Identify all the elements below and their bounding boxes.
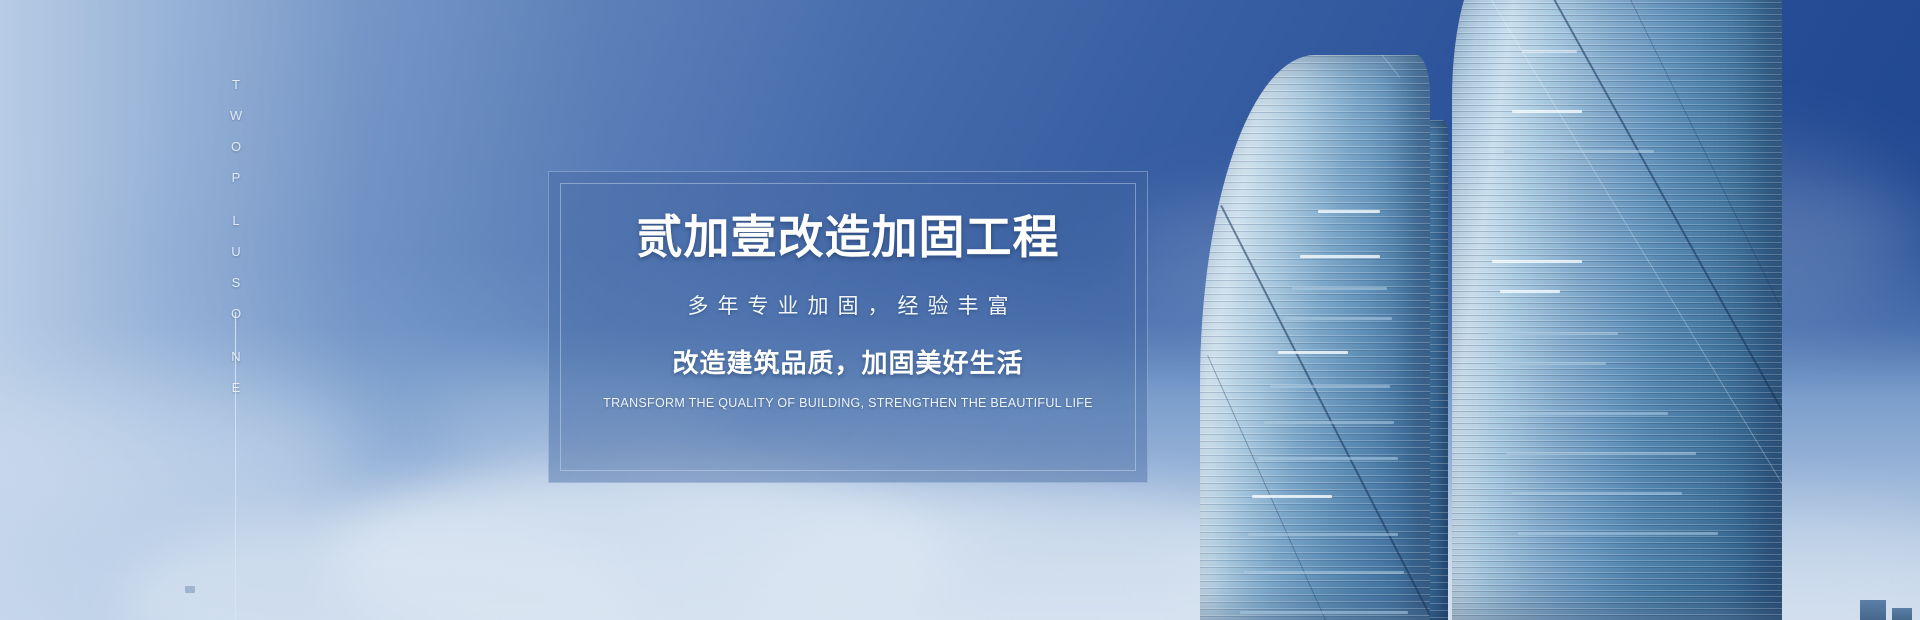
- window-strip: [1258, 457, 1398, 460]
- lit-window-strip: [1300, 255, 1380, 258]
- brand-letter: S: [232, 276, 241, 289]
- tower-right-twisting: [1452, 0, 1782, 620]
- window-strip: [1504, 150, 1654, 153]
- background-building: [1892, 608, 1912, 620]
- window-strip: [1244, 571, 1404, 574]
- lit-window-strip: [1492, 260, 1582, 263]
- window-strip: [1248, 533, 1398, 536]
- window-strip: [1240, 611, 1408, 614]
- brand-letter: L: [232, 214, 239, 227]
- brand-letter: P: [232, 171, 241, 184]
- facade-arc: [1452, 0, 1782, 620]
- brand-divider-line: [235, 312, 236, 620]
- lit-window-strip: [1522, 50, 1577, 53]
- window-strip: [1270, 385, 1390, 388]
- brand-letter: U: [231, 245, 240, 258]
- english-tagline: TRANSFORM THE QUALITY OF BUILDING, STREN…: [603, 397, 1093, 410]
- window-strip: [1264, 421, 1394, 424]
- lit-window-strip: [1318, 210, 1380, 213]
- lit-window-strip: [1500, 290, 1560, 293]
- lit-window-strip: [1252, 495, 1332, 498]
- tower-left-leaf: [1200, 55, 1430, 620]
- background-building: [1860, 600, 1886, 620]
- brand-letter: O: [231, 307, 241, 320]
- page-title: 贰加壹改造加固工程: [637, 214, 1060, 260]
- brand-letter: W: [230, 109, 242, 122]
- skyscraper-scene: [1160, 0, 1920, 620]
- window-strip: [1284, 317, 1392, 320]
- window-strip: [1292, 287, 1387, 290]
- lit-window-strip: [1278, 351, 1348, 354]
- brand-letter: T: [232, 78, 240, 91]
- hero-text-panel: 贰加壹改造加固工程 多年专业加固，经验丰富 改造建筑品质，加固美好生活 TRAN…: [548, 171, 1148, 483]
- window-strip: [1512, 492, 1682, 495]
- window-strip: [1496, 362, 1606, 365]
- brand-letter: O: [231, 140, 241, 153]
- panel-content: 贰加壹改造加固工程 多年专业加固，经验丰富 改造建筑品质，加固美好生活 TRAN…: [549, 172, 1147, 482]
- lit-window-strip: [1512, 110, 1582, 113]
- hero-banner: T W O P L U S O N E 贰加壹改造加固工程 多年专业加固，经验丰…: [0, 0, 1920, 620]
- window-strip: [1488, 332, 1618, 335]
- subtitle: 多年专业加固，经验丰富: [679, 296, 1018, 317]
- window-strip: [1498, 412, 1668, 415]
- brand-vertical-text: T W O P L U S O N E: [225, 78, 247, 412]
- window-strip: [1506, 452, 1696, 455]
- window-strip: [1518, 532, 1718, 535]
- brand-bottom-mark: [185, 586, 195, 593]
- tagline: 改造建筑品质，加固美好生活: [672, 350, 1023, 376]
